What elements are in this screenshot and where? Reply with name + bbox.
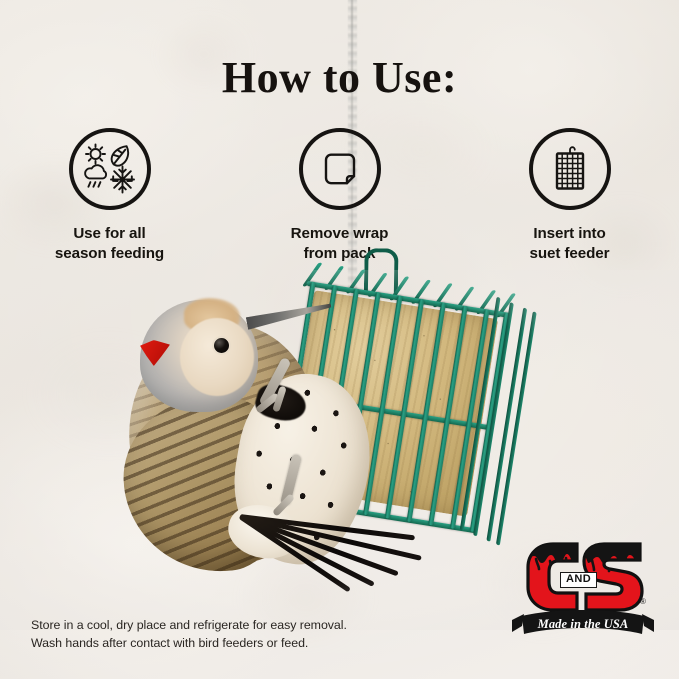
page-title: How to Use:	[0, 52, 679, 103]
step-caption: Use for all season feeding	[55, 224, 164, 264]
product-infographic: How to Use:	[0, 0, 679, 679]
step-insert-suet: Insert into suet feeder	[495, 128, 645, 264]
step-all-season-feeding: Use for all season feeding	[35, 128, 185, 264]
step-caption-line1: Remove wrap	[291, 225, 389, 242]
wrapper-peel-icon-glyph	[314, 143, 366, 195]
northern-flicker-bird	[118, 278, 438, 608]
logo-registered-mark: ®	[640, 597, 646, 606]
step-caption-line1: Insert into	[533, 225, 605, 242]
suet-cage-icon	[529, 128, 611, 210]
step-caption-line1: Use for all	[73, 225, 145, 242]
bird-tail	[240, 514, 450, 592]
suet-cage-icon-glyph	[543, 142, 597, 196]
seasons-icon-glyph	[81, 140, 139, 198]
ribbon-label: Made in the USA	[510, 617, 656, 632]
brand-logo: AND ® Made in the USA	[508, 537, 658, 645]
storage-note: Store in a cool, dry place and refrigera…	[31, 617, 347, 652]
step-caption: Insert into suet feeder	[530, 224, 610, 264]
bird-face	[180, 318, 254, 396]
step-caption-line2: suet feeder	[530, 245, 610, 262]
step-caption-line2: season feeding	[55, 245, 164, 262]
steps-row: Use for all season feeding Remove wrap f…	[0, 128, 679, 264]
seasons-icon	[69, 128, 151, 210]
wrapper-peel-icon	[299, 128, 381, 210]
made-in-usa-ribbon: Made in the USA	[510, 610, 656, 644]
storage-note-line2: Wash hands after contact with bird feede…	[31, 635, 347, 653]
logo-and-badge: AND	[560, 572, 597, 588]
bird-eye	[214, 338, 229, 353]
bird-bill	[245, 298, 333, 331]
step-remove-wrap: Remove wrap from pack	[265, 128, 415, 264]
storage-note-line1: Store in a cool, dry place and refrigera…	[31, 617, 347, 635]
